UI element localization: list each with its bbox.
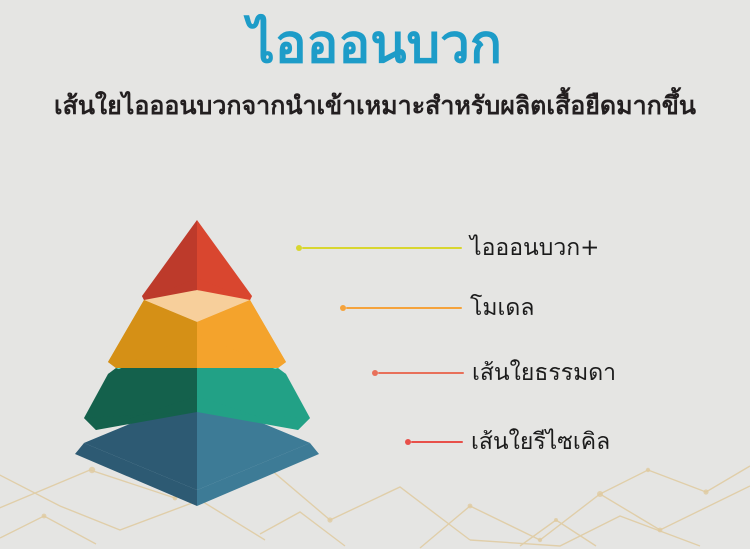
- legend-item-3[interactable]: เส้นใยรีไซเคิล: [405, 425, 596, 459]
- legend-item-1[interactable]: โมเดล: [340, 291, 596, 325]
- poster-header: ไอออนบวก เส้นใยไอออนบวกจากนำเข้าเหมาะสำห…: [0, 0, 750, 121]
- legend-line-3: [411, 441, 463, 443]
- page-title: ไอออนบวก: [0, 0, 750, 77]
- legend-connector-0: [296, 242, 462, 254]
- legend-item-0[interactable]: ไอออนบวก+: [296, 231, 596, 265]
- pyramid-legend: ไอออนบวก+ โมเดล เส้นใยธรรมดา เส้นใยรีไซเ…: [280, 225, 750, 495]
- legend-item-2[interactable]: เส้นใยธรรมดา: [372, 356, 596, 390]
- legend-line-0: [302, 247, 462, 249]
- legend-label-1: โมเดล: [462, 297, 534, 320]
- infographic-poster: ไอออนบวก เส้นใยไอออนบวกจากนำเข้าเหมาะสำห…: [0, 0, 750, 549]
- legend-label-2: เส้นใยธรรมดา: [464, 362, 616, 385]
- legend-label-3: เส้นใยรีไซเคิล: [463, 431, 610, 454]
- pyramid-level-2[interactable]: [108, 278, 286, 368]
- legend-line-2: [378, 372, 464, 374]
- legend-connector-3: [405, 436, 463, 448]
- legend-connector-2: [372, 367, 464, 379]
- pyramid-level-1[interactable]: [142, 220, 252, 300]
- legend-connector-1: [340, 302, 462, 314]
- legend-line-1: [346, 307, 462, 309]
- legend-label-0: ไอออนบวก+: [462, 237, 599, 260]
- page-subtitle: เส้นใยไอออนบวกจากนำเข้าเหมาะสำหรับผลิตเส…: [0, 77, 750, 121]
